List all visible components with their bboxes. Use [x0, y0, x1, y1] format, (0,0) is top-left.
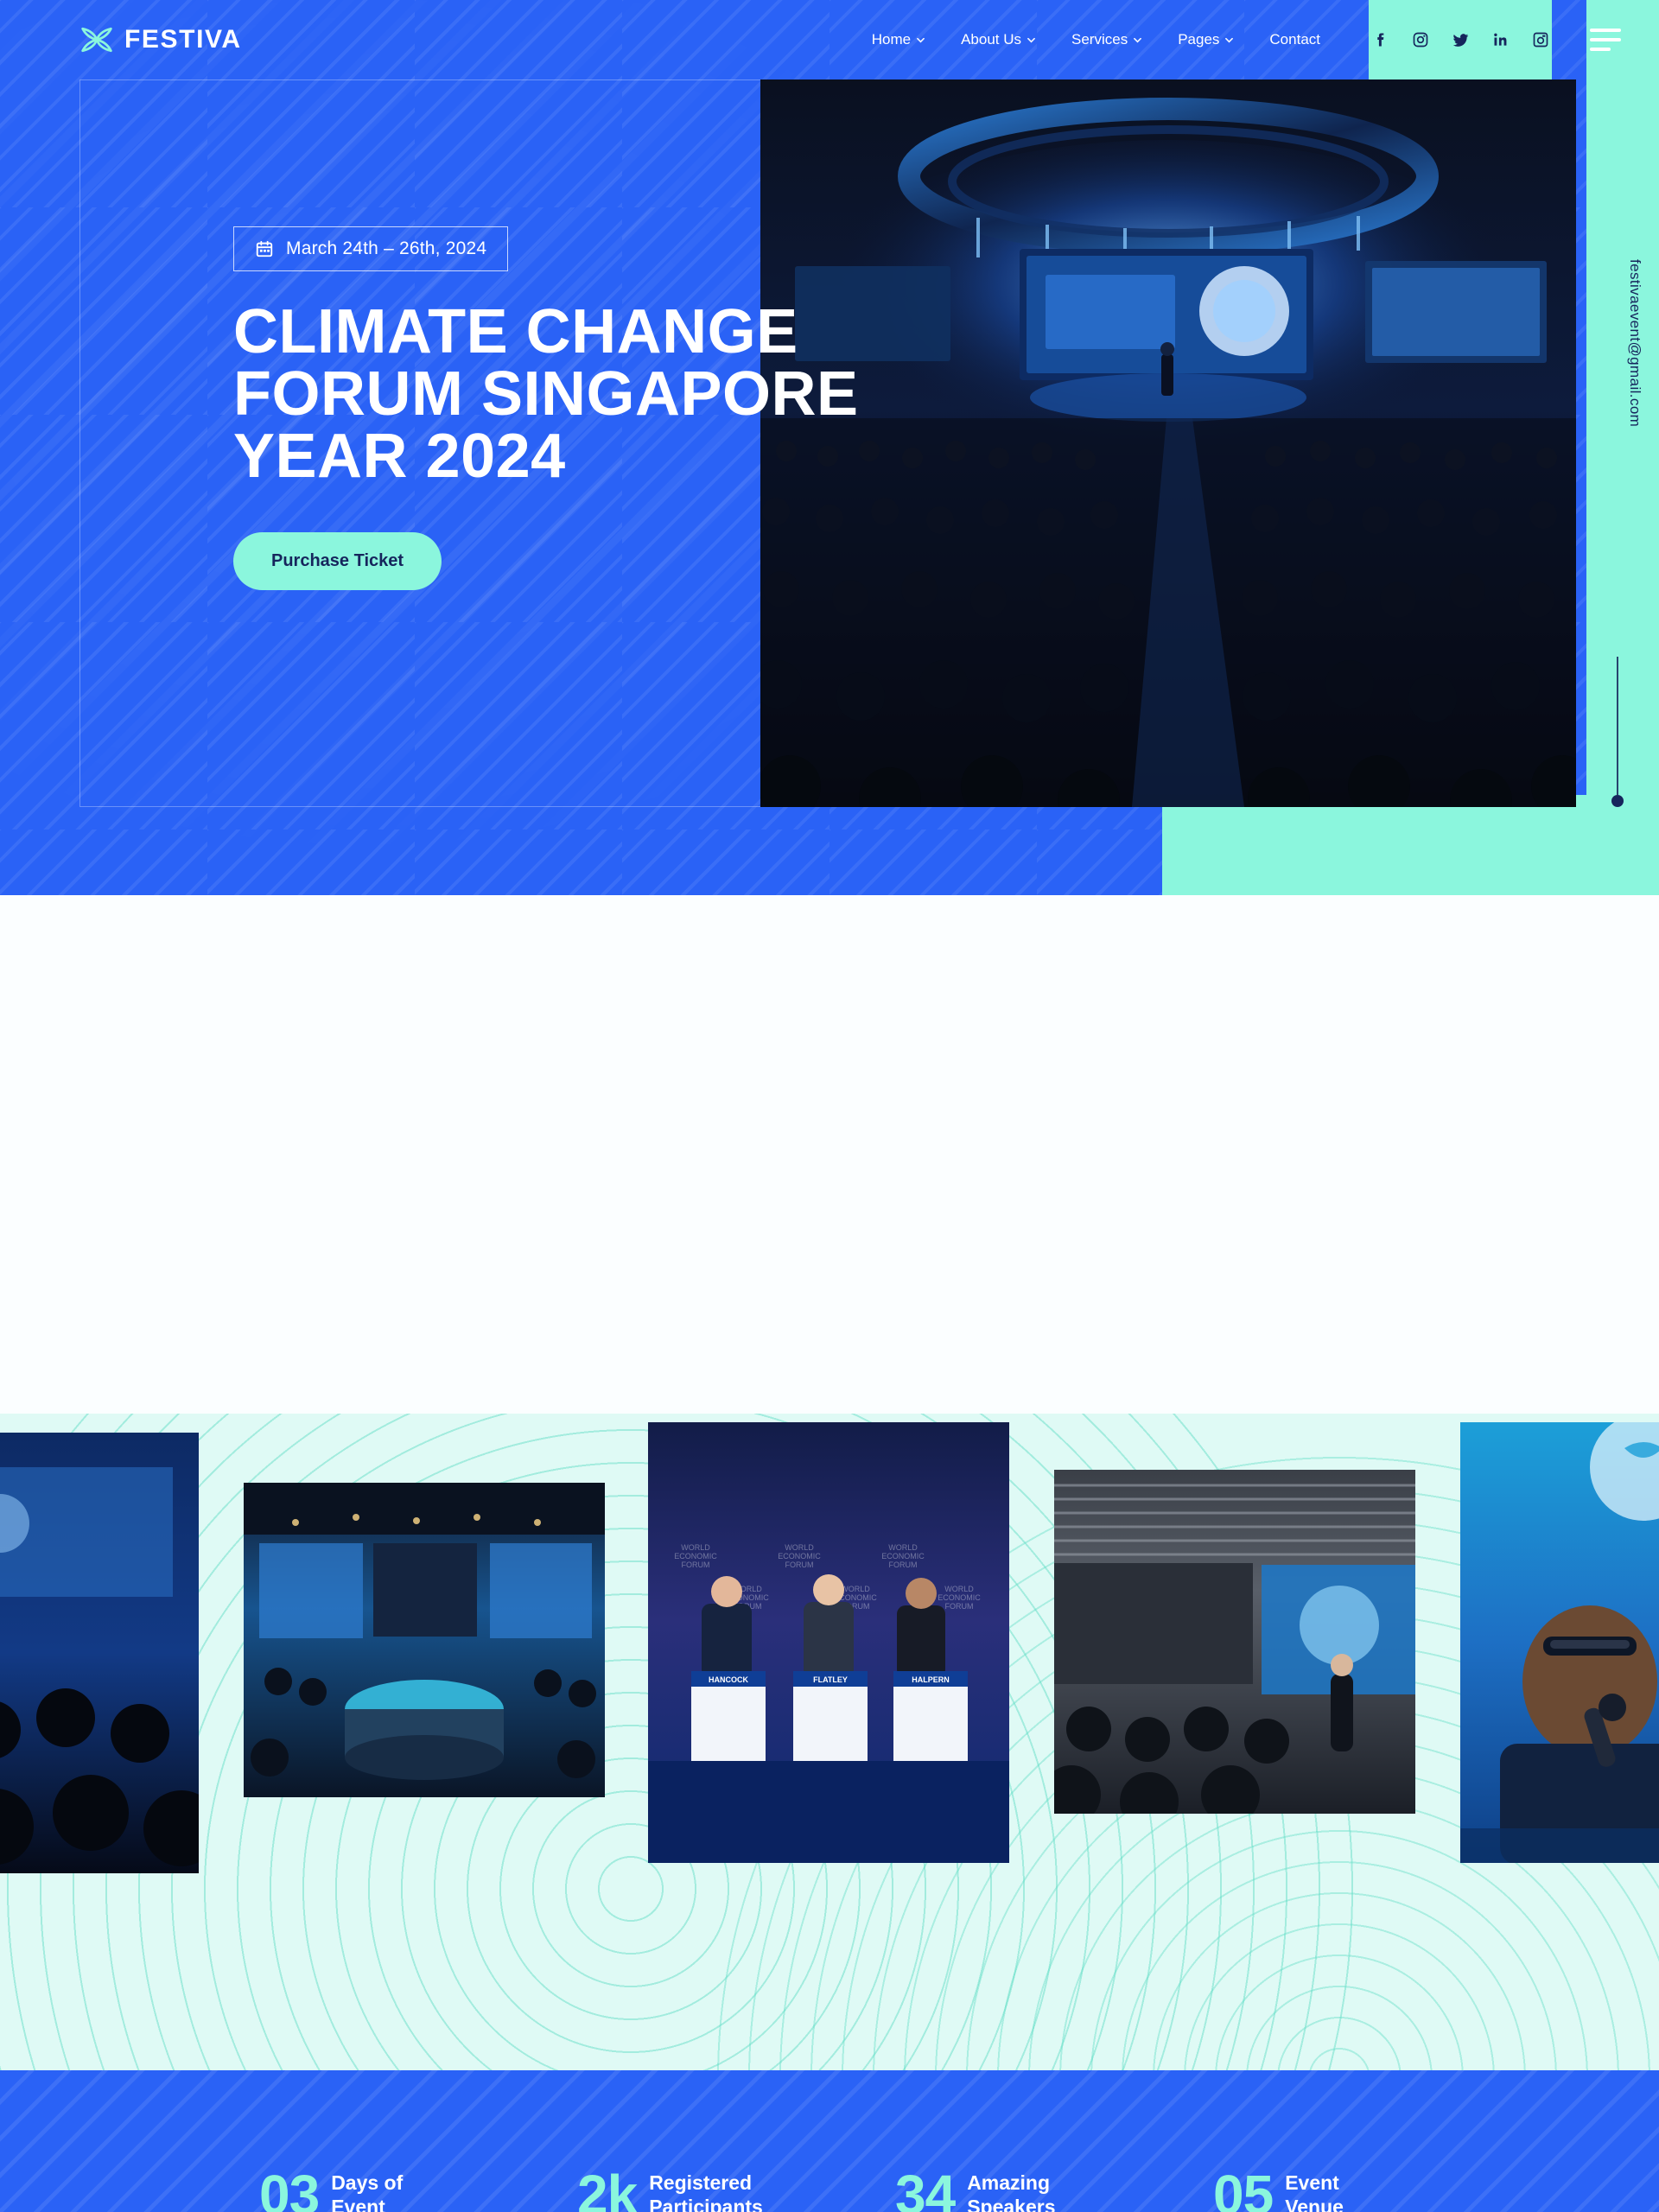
twitter-icon[interactable]: [1452, 31, 1470, 49]
stat-label-line1: Registered: [649, 2171, 763, 2195]
stats-row: 03 Days of Event 2k Registered Participa…: [259, 2167, 1531, 2212]
nav-item-label: About Us: [961, 31, 1021, 48]
butterfly-x-logo-icon: [79, 23, 114, 56]
nav-item-label: Home: [872, 31, 911, 48]
hero-date-badge: March 24th – 26th, 2024: [233, 226, 508, 271]
stat-days-of-event: 03 Days of Event: [259, 2167, 577, 2212]
stat-number: 05: [1213, 2167, 1273, 2212]
stat-label-line2: Event: [331, 2195, 403, 2212]
instagram-icon[interactable]: [1412, 31, 1429, 48]
stat-label: Amazing Speakers: [967, 2171, 1055, 2212]
chevron-down-icon: [1134, 36, 1141, 44]
stats-section: 03 Days of Event 2k Registered Participa…: [0, 2070, 1659, 2212]
purchase-ticket-button[interactable]: Purchase Ticket: [233, 532, 442, 590]
svg-text:WORLD: WORLD: [841, 1585, 870, 1593]
stat-event-venue: 05 Event Venue: [1213, 2167, 1531, 2212]
gallery-item-5[interactable]: [1460, 1422, 1659, 1863]
stat-label-line2: Venue: [1285, 2195, 1344, 2212]
brand-name: FESTIVA: [124, 27, 242, 53]
svg-text:HANCOCK: HANCOCK: [709, 1675, 748, 1684]
facebook-icon[interactable]: [1372, 31, 1389, 48]
mint-side-rail: [1586, 0, 1659, 795]
nav-item-about-us[interactable]: About Us: [961, 31, 1035, 48]
svg-text:FORUM: FORUM: [785, 1560, 814, 1569]
conference-hall-screen-photo: [1054, 1470, 1415, 1814]
stat-label-line1: Amazing: [967, 2171, 1055, 2195]
stat-label: Days of Event: [331, 2171, 403, 2212]
hamburger-bar: [1590, 48, 1611, 51]
svg-text:ECONOMIC: ECONOMIC: [778, 1552, 821, 1560]
chevron-down-icon: [1225, 36, 1233, 44]
side-email-link[interactable]: festivaevent@gmail.com: [1626, 259, 1643, 427]
stat-label: Event Venue: [1285, 2171, 1344, 2212]
svg-text:WORLD: WORLD: [888, 1543, 918, 1552]
hero-title-line-1: CLIMATE CHANGE: [233, 301, 1063, 363]
gallery-section: WORLDECONOMICFORUM WORLDECONOMICFORUM WO…: [0, 1414, 1659, 2070]
hero-title-line-2: FORUM SINGAPORE: [233, 363, 1063, 425]
svg-text:WORLD: WORLD: [681, 1543, 710, 1552]
stat-label: Registered Participants: [649, 2171, 763, 2212]
svg-text:FORUM: FORUM: [889, 1560, 918, 1569]
svg-text:HALPERN: HALPERN: [912, 1675, 950, 1684]
stat-number: 03: [259, 2167, 319, 2212]
svg-text:FORUM: FORUM: [682, 1560, 710, 1569]
page-title: CLIMATE CHANGE FORUM SINGAPORE YEAR 2024: [233, 301, 1063, 487]
speaker-with-microphone-photo: [1460, 1422, 1659, 1863]
gallery-item-2[interactable]: [244, 1483, 605, 1797]
svg-text:ECONOMIC: ECONOMIC: [881, 1552, 925, 1560]
audience-in-dark-hall-photo: [0, 1433, 199, 1873]
svg-text:FORUM: FORUM: [945, 1602, 974, 1611]
social-links: [1369, 0, 1552, 79]
svg-text:ECONOMIC: ECONOMIC: [938, 1593, 981, 1602]
nav-item-pages[interactable]: Pages: [1178, 31, 1233, 48]
hamburger-menu-icon[interactable]: [1552, 0, 1659, 79]
nav-item-home[interactable]: Home: [872, 31, 925, 48]
gallery-item-3[interactable]: WORLDECONOMICFORUM WORLDECONOMICFORUM WO…: [648, 1422, 1009, 1863]
nav-item-label: Pages: [1178, 31, 1219, 48]
about-event-section: 20–25 February, 2024 7.00 am - 8.00pm: [0, 895, 1659, 1414]
svg-text:WORLD: WORLD: [944, 1585, 974, 1593]
stat-label-line1: Event: [1285, 2171, 1344, 2195]
stat-label-line2: Participants: [649, 2195, 763, 2212]
world-economic-forum-panel-photo: WORLDECONOMICFORUM WORLDECONOMICFORUM WO…: [648, 1422, 1009, 1863]
svg-text:ECONOMIC: ECONOMIC: [674, 1552, 717, 1560]
stat-label-line1: Days of: [331, 2171, 403, 2195]
hamburger-bar: [1590, 29, 1621, 32]
nav-item-services[interactable]: Services: [1071, 31, 1141, 48]
nav-item-label: Contact: [1269, 31, 1320, 48]
nav-item-label: Services: [1071, 31, 1128, 48]
stat-number: 2k: [577, 2167, 637, 2212]
mint-accent-block: [1162, 795, 1659, 895]
stat-number: 34: [895, 2167, 955, 2212]
main-navbar: FESTIVA Home About Us Services Pages: [0, 0, 1659, 79]
chevron-down-icon: [1027, 36, 1035, 44]
svg-text:WORLD: WORLD: [785, 1543, 814, 1552]
scroll-indicator-line: [1617, 657, 1618, 795]
hero-date-text: March 24th – 26th, 2024: [286, 238, 486, 259]
round-stage-exhibition-photo: [244, 1483, 605, 1797]
stat-label-line2: Speakers: [967, 2195, 1055, 2212]
nav-item-contact[interactable]: Contact: [1269, 31, 1320, 48]
nav-menu: Home About Us Services Pages Contact: [872, 0, 1320, 79]
hero-section: March 24th – 26th, 2024 CLIMATE CHANGE F…: [0, 0, 1659, 895]
svg-text:FLATLEY: FLATLEY: [813, 1675, 848, 1684]
scroll-indicator-dot[interactable]: [1611, 795, 1624, 807]
stat-amazing-speakers: 34 Amazing Speakers: [895, 2167, 1213, 2212]
linkedin-icon[interactable]: [1492, 31, 1510, 48]
page-root: March 24th – 26th, 2024 CLIMATE CHANGE F…: [0, 0, 1659, 2212]
hero-title-line-3: YEAR 2024: [233, 425, 1063, 487]
gallery-item-4[interactable]: [1054, 1470, 1415, 1814]
gallery-item-1[interactable]: [0, 1433, 199, 1873]
hero-copy: March 24th – 26th, 2024 CLIMATE CHANGE F…: [233, 226, 1063, 590]
hamburger-bar: [1590, 38, 1621, 41]
calendar-icon: [255, 239, 274, 258]
stat-registered-participants: 2k Registered Participants: [577, 2167, 895, 2212]
instagram-alt-icon[interactable]: [1532, 31, 1549, 48]
chevron-down-icon: [917, 36, 925, 44]
brand-logo[interactable]: FESTIVA: [79, 0, 242, 79]
